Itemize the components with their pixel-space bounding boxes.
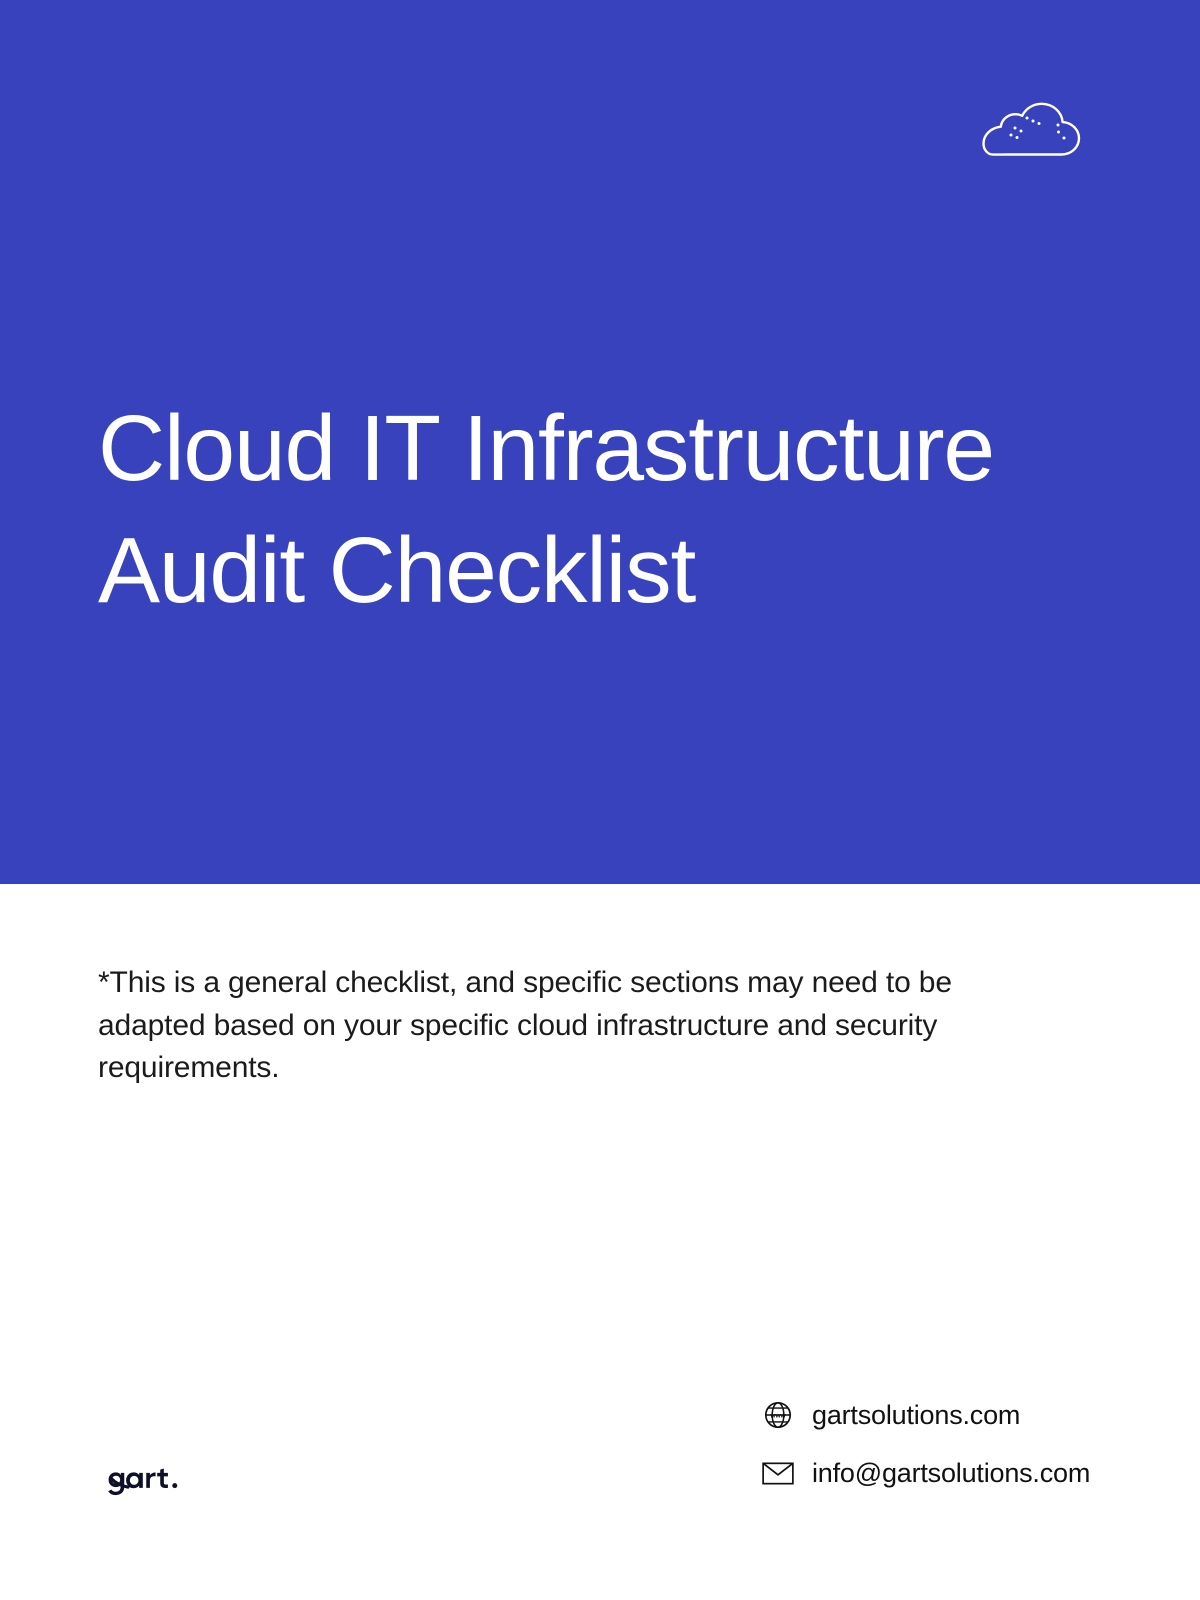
envelope-icon — [762, 1457, 794, 1489]
brand-logo[interactable] — [96, 1463, 206, 1503]
page-title: Cloud IT Infrastructure Audit Checklist — [98, 388, 1098, 632]
globe-www-icon: www — [762, 1399, 794, 1431]
svg-text:www: www — [769, 1412, 786, 1419]
hero-banner: Cloud IT Infrastructure Audit Checklist — [0, 0, 1200, 884]
contact-row-email[interactable]: info@gartsolutions.com — [762, 1444, 1142, 1502]
website-value: gartsolutions.com — [812, 1400, 1020, 1431]
email-value: info@gartsolutions.com — [812, 1458, 1090, 1489]
contact-row-website[interactable]: www gartsolutions.com — [762, 1386, 1142, 1444]
contact-block: www gartsolutions.com info@gartsolutions… — [762, 1386, 1142, 1502]
checklist-disclaimer: *This is a general checklist, and specif… — [98, 962, 1010, 1090]
cloud-icon — [978, 88, 1082, 160]
